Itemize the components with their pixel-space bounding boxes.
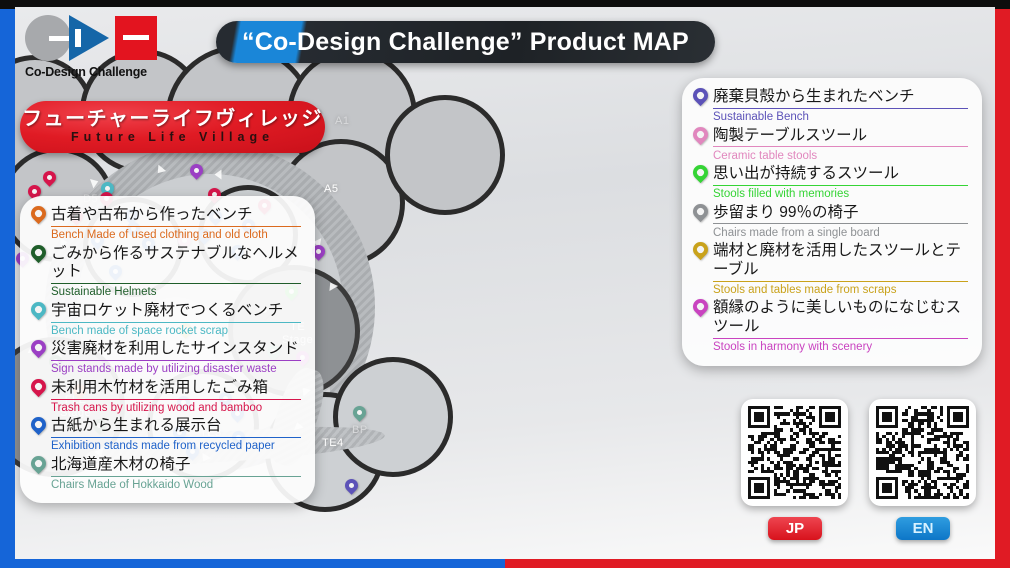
legend-item-label-jp: ごみから作るサステナブルなヘルメット [51, 245, 301, 285]
legend-item[interactable]: 未利用木竹材を活用したごみ箱Trash cans by utilizing wo… [31, 379, 301, 417]
map-pin-icon [693, 242, 708, 263]
legend-item-header: 思い出が持続するスツール [693, 165, 968, 186]
legend-panel-left[interactable]: 古着や古布から作ったベンチBench Made of used clothing… [20, 196, 315, 503]
border-bottom-left [0, 559, 505, 568]
qr-label-jp[interactable]: JP [768, 517, 822, 540]
legend-item-label-jp: 歩留まり 99％の椅子 [713, 204, 968, 225]
legend-item-header: 端材と廃材を活用したスツールとテーブル [693, 242, 968, 282]
map-pin-icon [190, 164, 203, 182]
poster-frame: D2D5B2B1A1A5TE1TE2TE StageFLE StageTE3TE… [0, 0, 1010, 568]
legend-item-header: 北海道産木材の椅子 [31, 456, 301, 477]
qr-code-jp[interactable] [741, 399, 848, 506]
map-pin[interactable] [345, 479, 358, 502]
legend-item-label-jp: 宇宙ロケット廃材でつくるベンチ [51, 302, 301, 323]
map-pin-icon [31, 456, 46, 477]
legend-item[interactable]: 災害廃材を利用したサインスタンドSign stands made by util… [31, 340, 301, 378]
zone-blob [333, 357, 453, 477]
qr-label-en[interactable]: EN [896, 517, 950, 540]
co-design-challenge-logo: Co-Design Challenge [25, 14, 185, 79]
map-pin-icon [353, 406, 366, 424]
legend-item-label-en: Stools and tables made from scraps [713, 282, 968, 299]
legend-item-label-en: Sustainable Bench [713, 109, 968, 126]
corner-top-right [995, 0, 1010, 9]
qr-code-en[interactable] [869, 399, 976, 506]
page-title-pill: “Co-Design Challenge” Product MAP [216, 21, 715, 63]
legend-item-label-jp: 災害廃材を利用したサインスタンド [51, 340, 301, 361]
future-life-village-badge: フューチャーライフヴィレッジ Future Life Village [20, 101, 325, 153]
legend-item-header: 廃棄貝殻から生まれたベンチ [693, 88, 968, 109]
border-bottom-right [505, 559, 1010, 568]
legend-item-label-en: Trash cans by utilizing wood and bamboo [51, 400, 301, 417]
legend-item-label-en: Ceramic table stools [713, 148, 968, 165]
legend-item-label-en: Chairs Made of Hokkaido Wood [51, 477, 301, 494]
legend-item-label-en: Exhibition stands made from recycled pap… [51, 438, 301, 455]
legend-item[interactable]: 古着や古布から作ったベンチBench Made of used clothing… [31, 206, 301, 244]
map-pin-icon [31, 379, 46, 400]
map-pin-icon [31, 245, 46, 266]
border-top [0, 0, 1010, 7]
legend-item-label-en: Bench Made of used clothing and old clot… [51, 227, 301, 244]
map-pin-icon [43, 171, 56, 189]
legend-item-header: 歩留まり 99％の椅子 [693, 204, 968, 225]
map-pin-icon [693, 204, 708, 225]
corner-top-left [0, 0, 15, 9]
legend-item-label-jp: 額縁のように美しいものになじむスツール [713, 299, 968, 339]
legend-item[interactable]: 古紙から生まれる展示台Exhibition stands made from r… [31, 417, 301, 455]
map-pin-icon [31, 302, 46, 323]
legend-item[interactable]: 北海道産木材の椅子Chairs Made of Hokkaido Wood [31, 456, 301, 494]
map-pin[interactable] [190, 164, 203, 187]
map-pin-icon [31, 340, 46, 361]
triangle-bar-icon [75, 29, 81, 47]
legend-item-header: ごみから作るサステナブルなヘルメット [31, 245, 301, 285]
map-pin-icon [693, 127, 708, 148]
legend-item[interactable]: ごみから作るサステナブルなヘルメットSustainable Helmets [31, 245, 301, 301]
legend-panel-right[interactable]: 廃棄貝殻から生まれたベンチSustainable Bench陶製テーブルスツール… [682, 78, 982, 366]
map-pin-icon [693, 88, 708, 109]
qr-matrix [748, 406, 841, 499]
legend-item-label-en: Bench made of space rocket scrap [51, 323, 301, 340]
legend-item[interactable]: 陶製テーブルスツールCeramic table stools [693, 127, 968, 165]
map-pin-icon [31, 417, 46, 438]
border-left [0, 0, 15, 568]
village-badge-en: Future Life Village [71, 131, 274, 145]
legend-item[interactable]: 宇宙ロケット廃材でつくるベンチBench made of space rocke… [31, 302, 301, 340]
gray-circle-mark [25, 15, 71, 61]
legend-item[interactable]: 廃棄貝殻から生まれたベンチSustainable Bench [693, 88, 968, 126]
legend-item-label-jp: 陶製テーブルスツール [713, 127, 968, 148]
map-pin[interactable] [353, 406, 366, 429]
zone-blob [385, 95, 505, 215]
legend-item[interactable]: 歩留まり 99％の椅子Chairs made from a single boa… [693, 204, 968, 242]
legend-item-label-jp: 古着や古布から作ったベンチ [51, 206, 301, 227]
legend-item[interactable]: 額縁のように美しいものになじむスツールStools in harmony wit… [693, 299, 968, 355]
legend-item-header: 古紙から生まれる展示台 [31, 417, 301, 438]
legend-item-label-en: Sign stands made by utilizing disaster w… [51, 361, 301, 378]
legend-item-label-en: Stools filled with memories [713, 186, 968, 203]
red-square-mark [115, 16, 157, 60]
legend-item-label-en: Stools in harmony with scenery [713, 339, 968, 356]
legend-item-label-jp: 未利用木竹材を活用したごみ箱 [51, 379, 301, 400]
legend-item-header: 災害廃材を利用したサインスタンド [31, 340, 301, 361]
legend-item-header: 宇宙ロケット廃材でつくるベンチ [31, 302, 301, 323]
page-title: “Co-Design Challenge” Product MAP [242, 28, 689, 57]
legend-item-label-jp: 端材と廃材を活用したスツールとテーブル [713, 242, 968, 282]
legend-item-label-en: Chairs made from a single board [713, 225, 968, 242]
map-pin-icon [693, 299, 708, 320]
legend-item-label-en: Sustainable Helmets [51, 284, 301, 301]
blue-triangle-mark [69, 15, 109, 61]
logo-brand-label: Co-Design Challenge [25, 65, 185, 79]
map-pin-icon [345, 479, 358, 497]
legend-item-label-jp: 廃棄貝殻から生まれたベンチ [713, 88, 968, 109]
logo-marks [25, 14, 185, 62]
direction-arrow-icon [215, 170, 222, 180]
legend-item-header: 額縁のように美しいものになじむスツール [693, 299, 968, 339]
map-pin-icon [31, 206, 46, 227]
map-pin[interactable] [43, 171, 56, 194]
legend-item-label-jp: 古紙から生まれる展示台 [51, 417, 301, 438]
legend-item[interactable]: 思い出が持続するスツールStools filled with memories [693, 165, 968, 203]
legend-item-header: 陶製テーブルスツール [693, 127, 968, 148]
legend-item-label-jp: 北海道産木材の椅子 [51, 456, 301, 477]
village-badge-jp: フューチャーライフヴィレッジ [22, 109, 323, 130]
legend-item-header: 古着や古布から作ったベンチ [31, 206, 301, 227]
border-right [995, 0, 1010, 568]
map-pin-icon [693, 165, 708, 186]
legend-item-label-jp: 思い出が持続するスツール [713, 165, 968, 186]
qr-matrix [876, 406, 969, 499]
legend-item-header: 未利用木竹材を活用したごみ箱 [31, 379, 301, 400]
legend-item[interactable]: 端材と廃材を活用したスツールとテーブルStools and tables mad… [693, 242, 968, 298]
